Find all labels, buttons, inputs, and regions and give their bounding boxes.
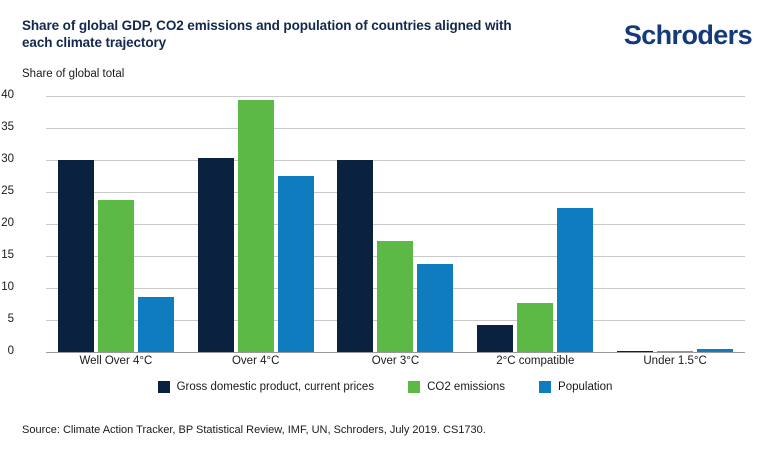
bar-groups — [46, 96, 745, 352]
bar-gdp[interactable] — [58, 160, 94, 352]
bar-co2[interactable] — [98, 200, 134, 352]
y-tick-label: 10 — [0, 281, 14, 293]
x-axis-label: Over 3°C — [326, 355, 466, 375]
x-axis-labels: Well Over 4°COver 4°COver 3°C2°C compati… — [46, 355, 745, 375]
legend-item-pop[interactable]: Population — [539, 381, 612, 393]
x-axis-label: Over 4°C — [186, 355, 326, 375]
legend-item-co2[interactable]: CO2 emissions — [408, 381, 505, 393]
y-tick-label: 40 — [0, 89, 14, 101]
bar-gdp[interactable] — [198, 158, 234, 352]
bar-co2[interactable] — [238, 100, 274, 352]
legend-label: CO2 emissions — [427, 381, 505, 393]
bar-co2[interactable] — [517, 303, 553, 352]
bar-group — [46, 96, 186, 352]
y-tick-label: 5 — [0, 313, 14, 325]
y-tick-label: 20 — [0, 217, 14, 229]
bar-pop[interactable] — [278, 176, 314, 352]
gridline-0 — [46, 352, 745, 353]
y-tick-label: 30 — [0, 153, 14, 165]
bar-group — [186, 96, 326, 352]
bar-pop[interactable] — [417, 264, 453, 352]
legend-label: Population — [558, 381, 612, 393]
legend-swatch-icon — [539, 381, 551, 393]
legend-item-gdp[interactable]: Gross domestic product, current prices — [158, 381, 375, 393]
bar-pop[interactable] — [697, 349, 733, 352]
y-tick-label: 15 — [0, 249, 14, 261]
x-axis-label: Well Over 4°C — [46, 355, 186, 375]
y-tick-label: 35 — [0, 121, 14, 133]
y-tick-label: 25 — [0, 185, 14, 197]
bar-pop[interactable] — [557, 208, 593, 352]
x-axis-label: 2°C compatible — [465, 355, 605, 375]
bar-group — [465, 96, 605, 352]
chart-legend: Gross domestic product, current pricesCO… — [0, 381, 770, 393]
bar-co2[interactable] — [377, 241, 413, 352]
legend-swatch-icon — [158, 381, 170, 393]
bar-gdp[interactable] — [617, 351, 653, 352]
bar-co2[interactable] — [657, 351, 693, 352]
bar-group — [605, 96, 745, 352]
x-axis-label: Under 1.5°C — [605, 355, 745, 375]
bar-gdp[interactable] — [477, 325, 513, 352]
bar-group — [326, 96, 466, 352]
legend-label: Gross domestic product, current prices — [177, 381, 375, 393]
bar-pop[interactable] — [138, 297, 174, 352]
source-note: Source: Climate Action Tracker, BP Stati… — [22, 424, 486, 436]
y-tick-label: 0 — [0, 345, 14, 357]
legend-swatch-icon — [408, 381, 420, 393]
plot-canvas: 0510152025303540 — [46, 96, 745, 352]
bar-gdp[interactable] — [337, 160, 373, 352]
